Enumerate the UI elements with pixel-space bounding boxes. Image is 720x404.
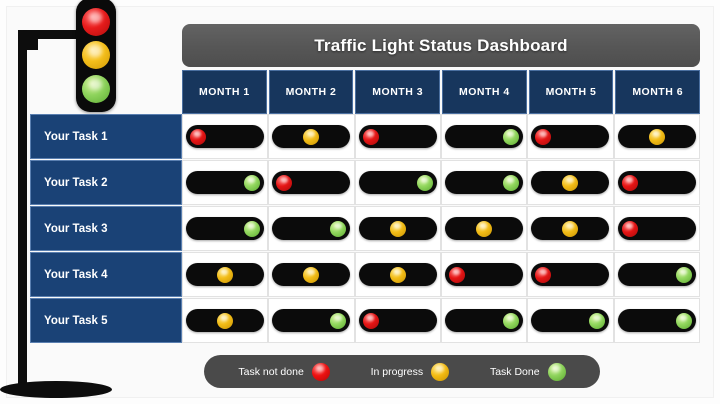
status-pill-yellow[interactable] xyxy=(272,125,350,148)
yellow-light-icon xyxy=(476,221,492,237)
status-legend: Task not done In progress Task Done xyxy=(204,355,600,388)
green-light-icon xyxy=(417,175,433,191)
green-light-icon xyxy=(503,175,519,191)
status-pill-green[interactable] xyxy=(272,309,350,332)
red-light-icon xyxy=(622,175,638,191)
row-header-task-5[interactable]: Your Task 5 xyxy=(30,298,182,343)
row-header-task-2[interactable]: Your Task 2 xyxy=(30,160,182,205)
red-light-icon xyxy=(535,129,551,145)
legend-label: In progress xyxy=(371,366,424,378)
legend-yellow-dot-icon xyxy=(431,363,449,381)
status-cell-r5-c2[interactable] xyxy=(268,298,354,343)
table-header-row: MONTH 1 MONTH 2 MONTH 3 MONTH 4 MONTH 5 … xyxy=(30,70,700,114)
status-cell-r2-c2[interactable] xyxy=(268,160,354,205)
row-header-task-4[interactable]: Your Task 4 xyxy=(30,252,182,297)
column-header-label: MONTH 5 xyxy=(546,86,597,98)
row-header-label: Your Task 3 xyxy=(44,223,108,235)
status-pill-red[interactable] xyxy=(531,125,609,148)
column-header-month-2: MONTH 2 xyxy=(269,70,354,114)
row-header-label: Your Task 5 xyxy=(44,315,108,327)
yellow-light-icon xyxy=(303,267,319,283)
column-header-label: MONTH 1 xyxy=(199,86,250,98)
status-cell-r3-c2[interactable] xyxy=(268,206,354,251)
green-light-icon xyxy=(589,313,605,329)
status-pill-green[interactable] xyxy=(186,217,264,240)
status-cell-r4-c5[interactable] xyxy=(527,252,613,297)
column-header-label: MONTH 2 xyxy=(286,86,337,98)
row-header-label: Your Task 1 xyxy=(44,131,108,143)
status-pill-green[interactable] xyxy=(186,171,264,194)
status-cell-r1-c1[interactable] xyxy=(182,114,268,159)
yellow-light-icon xyxy=(390,221,406,237)
column-header-month-3: MONTH 3 xyxy=(355,70,440,114)
status-pill-yellow[interactable] xyxy=(272,263,350,286)
status-pill-red[interactable] xyxy=(445,263,523,286)
yellow-light-icon xyxy=(303,129,319,145)
status-pill-green[interactable] xyxy=(445,125,523,148)
legend-item-in-progress: In progress xyxy=(371,363,450,381)
status-cell-r3-c3[interactable] xyxy=(355,206,441,251)
status-cell-r2-c4[interactable] xyxy=(441,160,527,205)
status-pill-yellow[interactable] xyxy=(445,217,523,240)
status-cell-r2-c3[interactable] xyxy=(355,160,441,205)
table-body: Your Task 1Your Task 2Your Task 3Your Ta… xyxy=(30,114,700,344)
status-pill-red[interactable] xyxy=(272,171,350,194)
status-cell-r5-c6[interactable] xyxy=(614,298,700,343)
table-row: Your Task 5 xyxy=(30,298,700,344)
red-light-icon xyxy=(622,221,638,237)
page-title: Traffic Light Status Dashboard xyxy=(314,36,567,56)
slide-canvas: Traffic Light Status Dashboard MONTH 1 M… xyxy=(0,0,720,404)
pole-elbow xyxy=(18,30,38,50)
table-row: Your Task 1 xyxy=(30,114,700,160)
status-cell-r1-c4[interactable] xyxy=(441,114,527,159)
status-cell-r2-c6[interactable] xyxy=(614,160,700,205)
status-cell-r3-c6[interactable] xyxy=(614,206,700,251)
status-pill-red[interactable] xyxy=(618,171,696,194)
status-cell-r1-c2[interactable] xyxy=(268,114,354,159)
status-pill-yellow[interactable] xyxy=(531,171,609,194)
red-light-icon xyxy=(276,175,292,191)
table-row: Your Task 2 xyxy=(30,160,700,206)
column-header-label: MONTH 3 xyxy=(372,86,423,98)
column-header-month-5: MONTH 5 xyxy=(529,70,614,114)
status-grid: MONTH 1 MONTH 2 MONTH 3 MONTH 4 MONTH 5 … xyxy=(30,70,700,345)
legend-green-dot-icon xyxy=(548,363,566,381)
status-cell-r5-c1[interactable] xyxy=(182,298,268,343)
red-light-icon xyxy=(449,267,465,283)
yellow-light-icon xyxy=(217,313,233,329)
legend-red-dot-icon xyxy=(312,363,330,381)
green-light-icon xyxy=(244,221,260,237)
status-pill-green[interactable] xyxy=(531,309,609,332)
status-pill-yellow[interactable] xyxy=(186,309,264,332)
status-pill-red[interactable] xyxy=(359,309,437,332)
green-light-icon xyxy=(330,313,346,329)
status-pill-yellow[interactable] xyxy=(186,263,264,286)
status-cell-r4-c2[interactable] xyxy=(268,252,354,297)
yellow-light-icon xyxy=(562,175,578,191)
status-cell-r1-c5[interactable] xyxy=(527,114,613,159)
pole-vertical-bar xyxy=(18,30,27,392)
status-pill-red[interactable] xyxy=(186,125,264,148)
green-light-icon xyxy=(244,175,260,191)
column-header-month-6: MONTH 6 xyxy=(615,70,700,114)
table-row: Your Task 3 xyxy=(30,206,700,252)
yellow-light-icon xyxy=(649,129,665,145)
grid-corner-cell xyxy=(30,70,182,114)
status-pill-yellow[interactable] xyxy=(618,125,696,148)
status-cell-r4-c6[interactable] xyxy=(614,252,700,297)
table-row: Your Task 4 xyxy=(30,252,700,298)
status-cell-r2-c5[interactable] xyxy=(527,160,613,205)
status-pill-red[interactable] xyxy=(531,263,609,286)
status-cell-r4-c4[interactable] xyxy=(441,252,527,297)
legend-item-task-done: Task Done xyxy=(490,363,566,381)
column-header-month-4: MONTH 4 xyxy=(442,70,527,114)
status-cell-r4-c3[interactable] xyxy=(355,252,441,297)
green-light-icon xyxy=(503,129,519,145)
status-cell-r5-c5[interactable] xyxy=(527,298,613,343)
status-cell-r4-c1[interactable] xyxy=(182,252,268,297)
status-pill-green[interactable] xyxy=(618,263,696,286)
green-light-icon xyxy=(330,221,346,237)
status-pill-yellow[interactable] xyxy=(359,263,437,286)
yellow-light-icon xyxy=(217,267,233,283)
red-light-icon xyxy=(363,313,379,329)
dashboard-title-bar: Traffic Light Status Dashboard xyxy=(182,24,700,67)
status-cell-r3-c5[interactable] xyxy=(527,206,613,251)
traffic-light-yellow-bulb-icon xyxy=(82,41,110,69)
column-header-month-1: MONTH 1 xyxy=(182,70,267,114)
red-light-icon xyxy=(363,129,379,145)
status-pill-green[interactable] xyxy=(272,217,350,240)
row-header-label: Your Task 4 xyxy=(44,269,108,281)
status-pill-green[interactable] xyxy=(445,171,523,194)
red-light-icon xyxy=(535,267,551,283)
legend-item-task-not-done: Task not done xyxy=(238,363,329,381)
red-light-icon xyxy=(190,129,206,145)
legend-label: Task Done xyxy=(490,366,540,378)
yellow-light-icon xyxy=(390,267,406,283)
row-header-task-3[interactable]: Your Task 3 xyxy=(30,206,182,251)
status-pill-red[interactable] xyxy=(359,125,437,148)
status-pill-yellow[interactable] xyxy=(359,217,437,240)
status-cell-r3-c1[interactable] xyxy=(182,206,268,251)
status-cell-r3-c4[interactable] xyxy=(441,206,527,251)
status-cell-r1-c6[interactable] xyxy=(614,114,700,159)
green-light-icon xyxy=(676,267,692,283)
pole-base xyxy=(0,381,112,398)
status-pill-green[interactable] xyxy=(618,309,696,332)
yellow-light-icon xyxy=(562,221,578,237)
status-pill-green[interactable] xyxy=(445,309,523,332)
status-cell-r5-c4[interactable] xyxy=(441,298,527,343)
status-cell-r1-c3[interactable] xyxy=(355,114,441,159)
row-header-task-1[interactable]: Your Task 1 xyxy=(30,114,182,159)
status-pill-yellow[interactable] xyxy=(531,217,609,240)
row-header-label: Your Task 2 xyxy=(44,177,108,189)
green-light-icon xyxy=(676,313,692,329)
status-pill-green[interactable] xyxy=(359,171,437,194)
status-cell-r2-c1[interactable] xyxy=(182,160,268,205)
legend-label: Task not done xyxy=(238,366,303,378)
green-light-icon xyxy=(503,313,519,329)
column-header-label: MONTH 6 xyxy=(632,86,683,98)
traffic-light-red-bulb-icon xyxy=(82,8,110,36)
column-header-label: MONTH 4 xyxy=(459,86,510,98)
status-cell-r5-c3[interactable] xyxy=(355,298,441,343)
status-pill-red[interactable] xyxy=(618,217,696,240)
